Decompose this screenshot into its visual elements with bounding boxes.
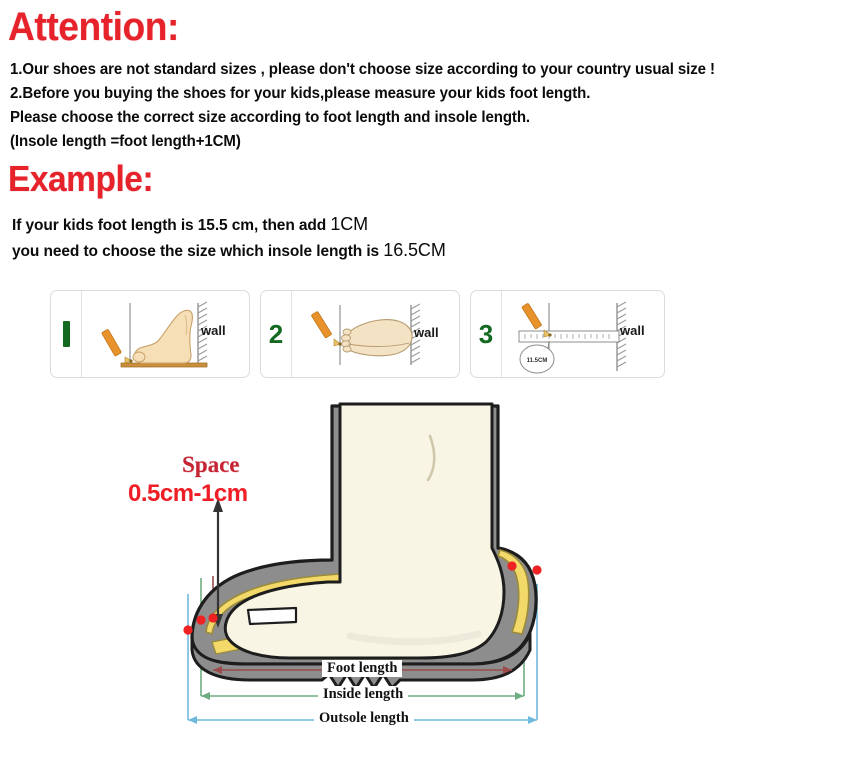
step-1-wall-label: wall <box>201 323 226 338</box>
dot-foot-heel <box>507 561 516 570</box>
measure-steps-panels: 1 <box>50 290 665 380</box>
space-value-label: 0.5cm-1cm <box>128 480 248 508</box>
example-line-2: you need to choose the size which insole… <box>12 238 712 264</box>
attention-heading: Attention: <box>8 6 179 48</box>
foot-length-label: Foot length <box>322 660 402 677</box>
shoe-cross-section-figure: Space 0.5cm-1cm Foot length Inside lengt… <box>100 398 620 758</box>
step-2-number: 2 <box>269 321 283 347</box>
pencil-icon <box>311 311 341 346</box>
step-2-illustration: wall <box>291 291 459 377</box>
step-3-ruler-reading: 11.5CM <box>527 358 548 364</box>
step-3-illustration: 11.5CM wall <box>501 291 664 377</box>
example-line-2-value: 16.5CM <box>383 240 445 260</box>
step-panel-2: 2 <box>260 290 460 378</box>
step-panel-3: 3 <box>470 290 665 378</box>
example-line-2-prefix: you need to choose the size which insole… <box>12 243 383 260</box>
attention-line-1: 1.Our shoes are not standard sizes , ple… <box>10 58 776 82</box>
step-2-wall-label: wall <box>414 325 439 340</box>
step-3-number-cell: 3 <box>471 291 502 377</box>
dot-outsole-heel <box>532 565 541 574</box>
step-1-number: 1 <box>63 321 70 347</box>
attention-line-3: Please choose the correct size according… <box>10 106 776 130</box>
pencil-icon <box>102 329 133 363</box>
dot-inside-toe <box>196 615 205 624</box>
attention-line-2: 2.Before you buying the shoes for your k… <box>10 82 776 106</box>
attention-line-4: (Insole length =foot length+1CM) <box>10 130 776 154</box>
toe-box-highlight <box>248 608 296 624</box>
step-3-number: 3 <box>479 321 493 347</box>
step-1-number-cell: 1 <box>51 291 82 377</box>
example-heading: Example: <box>8 160 153 198</box>
shoe-diagram-svg <box>100 398 620 758</box>
step-2-number-cell: 2 <box>261 291 292 377</box>
example-line-1-prefix: If your kids foot length is 15.5 cm, the… <box>12 217 330 234</box>
space-label: Space <box>182 452 240 478</box>
outsole-length-label: Outsole length <box>314 710 414 727</box>
dot-outsole-toe <box>183 625 192 634</box>
example-text-block: If your kids foot length is 15.5 cm, the… <box>12 212 712 264</box>
step-panel-1: 1 <box>50 290 250 378</box>
inside-length-label: Inside length <box>318 686 408 703</box>
attention-text-block: 1.Our shoes are not standard sizes , ple… <box>10 58 800 154</box>
example-line-1: If your kids foot length is 15.5 cm, the… <box>12 212 712 238</box>
step-1-illustration: wall <box>81 291 249 377</box>
example-line-1-value: 1CM <box>330 214 368 234</box>
dot-foot-toe <box>208 613 217 622</box>
step-3-wall-label: wall <box>620 323 645 338</box>
